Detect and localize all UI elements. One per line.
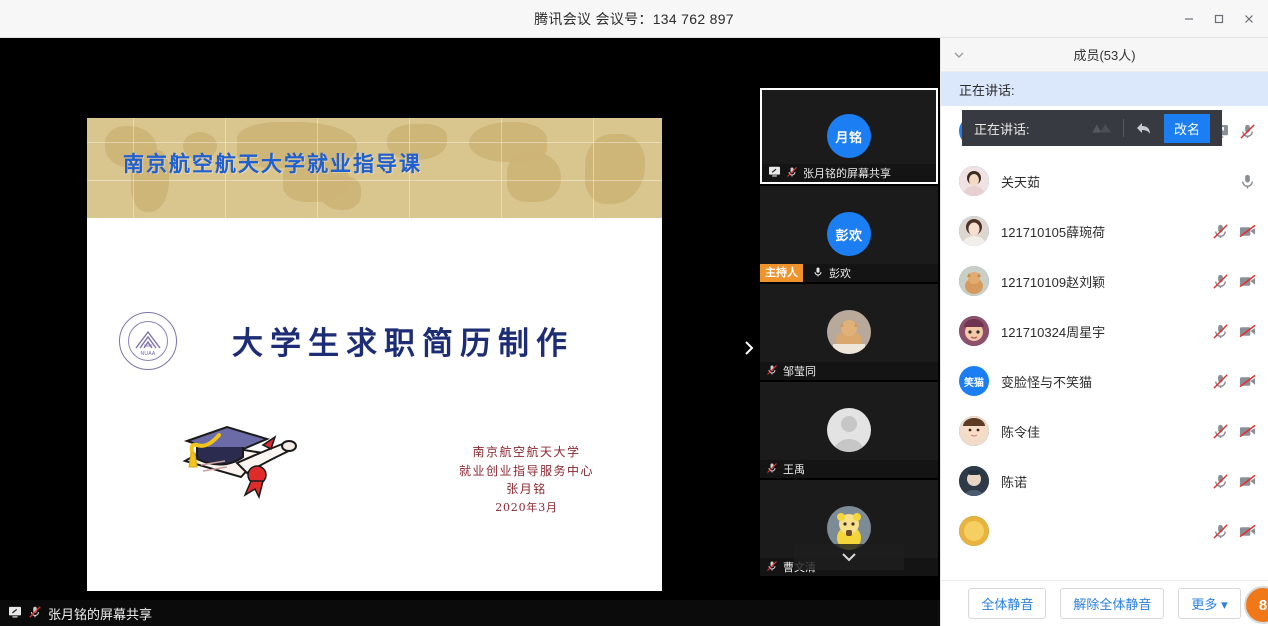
tile-label-bar: 张月铭的屏幕共享 — [762, 164, 936, 182]
mic-muted-icon[interactable] — [1212, 223, 1229, 240]
participant-row[interactable]: 笑猫 变脸怪与不笑猫 — [941, 356, 1268, 406]
participant-status-icons — [1239, 173, 1256, 190]
speaking-status-row: 正在讲话: — [941, 72, 1268, 106]
speaking-tooltip-overlay: 正在讲话: 改名 — [962, 110, 1222, 146]
avatar — [959, 166, 989, 196]
avatar — [959, 316, 989, 346]
video-tile[interactable]: 邹莹同 — [760, 284, 938, 380]
participant-row[interactable] — [941, 506, 1268, 556]
university-seal-logo: 1952 NUAA — [119, 312, 177, 370]
mute-all-button[interactable]: 全体静音 — [968, 588, 1046, 619]
mic-muted-icon — [28, 605, 42, 622]
panel-footer: 全体静音 解除全体静音 更多 ▾ 8 — [941, 580, 1268, 626]
video-off-icon[interactable] — [1239, 473, 1256, 490]
minimize-icon[interactable] — [1174, 4, 1204, 34]
participant-name: 关天茹 — [1001, 172, 1227, 191]
speaking-label: 正在讲话: — [959, 80, 1015, 99]
chevron-right-icon[interactable] — [741, 336, 757, 360]
floating-round-badge[interactable]: 8 — [1244, 586, 1268, 624]
avatar: 月铭 — [827, 114, 871, 158]
screen-share-icon — [8, 606, 22, 621]
unmute-all-button[interactable]: 解除全体静音 — [1060, 588, 1164, 619]
participant-name: 121710324周星宇 — [1001, 322, 1200, 341]
avatar — [959, 416, 989, 446]
participant-row[interactable]: 陈诺 — [941, 456, 1268, 506]
tile-label-bar: 主持人 彭欢 — [760, 264, 938, 282]
participant-name: 121710105薛琬荷 — [1001, 222, 1200, 241]
tile-label: 邹莹同 — [783, 363, 816, 379]
participant-status-icons — [1212, 423, 1256, 440]
participant-row[interactable]: 121710324周星宇 — [941, 306, 1268, 356]
chevron-down-icon[interactable] — [951, 47, 967, 63]
screen-share-status-bar: 张月铭的屏幕共享 — [0, 600, 940, 626]
participant-name: 陈诺 — [1001, 472, 1200, 491]
slide-footer-block: 南京航空航天大学 就业创业指导服务中心 张月铭 2020年3月 — [419, 443, 634, 516]
participant-list[interactable]: 月铭 张月铭 关天茹 — [941, 106, 1268, 580]
slide-main-title: 大学生求职简历制作 — [232, 318, 574, 363]
participant-name: 变脸怪与不笑猫 — [1001, 372, 1200, 391]
avatar — [959, 466, 989, 496]
avatar: 彭欢 — [827, 212, 871, 256]
avatar — [827, 310, 871, 354]
video-off-icon[interactable] — [1239, 323, 1256, 340]
title-bar: 腾讯会议 会议号：134 762 897 — [0, 0, 1268, 38]
avatar — [959, 266, 989, 296]
reply-arrow-icon[interactable] — [1134, 119, 1154, 137]
avatar: 笑猫 — [959, 366, 989, 396]
participant-name: 陈令佳 — [1001, 422, 1200, 441]
mountain-image-icon[interactable] — [1091, 119, 1113, 137]
participant-status-icons — [1212, 323, 1256, 340]
caret-down-icon: ▾ — [1221, 597, 1228, 612]
mic-muted-icon — [766, 560, 778, 575]
footer-line-2: 就业创业指导服务中心 — [419, 462, 634, 481]
tencent-meeting-window: 腾讯会议 会议号：134 762 897 — [0, 0, 1268, 626]
slide-body: 1952 NUAA 大学生求职简历制作 — [87, 218, 662, 591]
graduation-cap-illustration — [167, 423, 307, 503]
participant-status-icons — [1212, 373, 1256, 390]
tile-label: 张月铭的屏幕共享 — [803, 165, 891, 181]
participant-status-icons — [1212, 523, 1256, 540]
mic-on-icon[interactable] — [1239, 173, 1256, 190]
avatar — [959, 216, 989, 246]
video-tile[interactable]: 彭欢 主持人 彭欢 — [760, 186, 938, 282]
participant-status-icons — [1212, 273, 1256, 290]
video-tile[interactable]: 曹文清 — [760, 480, 938, 576]
participant-status-icons — [1212, 223, 1256, 240]
tile-label: 彭欢 — [829, 265, 851, 281]
mic-muted-icon[interactable] — [1212, 323, 1229, 340]
participant-row[interactable]: 121710105薛琬荷 — [941, 206, 1268, 256]
video-thumbnail-strip: 月铭 张月铭的屏幕共享 彭欢 主持人 彭欢 — [760, 88, 938, 578]
rename-button[interactable]: 改名 — [1164, 114, 1210, 143]
mic-muted-icon[interactable] — [1212, 523, 1229, 540]
tile-label: 王禹 — [783, 461, 805, 477]
window-title: 腾讯会议 会议号：134 762 897 — [534, 9, 734, 29]
tile-label-bar: 邹莹同 — [760, 362, 938, 380]
host-badge: 主持人 — [760, 264, 803, 282]
panel-title: 成员(53人) — [1073, 45, 1135, 64]
mic-muted-icon — [786, 166, 798, 181]
slide-banner: 南京航空航天大学就业指导课 — [87, 118, 662, 218]
mic-muted-icon — [766, 462, 778, 477]
tooltip-divider — [1123, 119, 1124, 137]
tooltip-label: 正在讲话: — [974, 119, 1091, 138]
participant-name: 121710109赵刘颖 — [1001, 272, 1200, 291]
avatar — [959, 516, 989, 546]
participant-status-icons — [1212, 473, 1256, 490]
video-off-icon[interactable] — [1239, 423, 1256, 440]
seal-year: 1952 — [129, 343, 167, 348]
mic-muted-icon[interactable] — [1239, 123, 1256, 140]
window-controls — [1174, 0, 1264, 38]
footer-line-1: 南京航空航天大学 — [419, 443, 634, 462]
mic-muted-icon[interactable] — [1212, 473, 1229, 490]
screen-share-icon — [768, 166, 781, 180]
mic-on-icon — [812, 266, 824, 281]
video-tile[interactable]: 王禹 — [760, 382, 938, 478]
seal-text: NUAA — [129, 351, 167, 357]
mic-muted-icon[interactable] — [1212, 273, 1229, 290]
panel-header: 成员(53人) — [941, 38, 1268, 72]
more-label: 更多 — [1191, 597, 1217, 612]
video-off-icon[interactable] — [1239, 523, 1256, 540]
footer-line-4: 2020年3月 — [419, 499, 634, 516]
presentation-slide: 南京航空航天大学就业指导课 1952 NUAA 大学生求职简历制作 — [87, 118, 662, 591]
participant-row[interactable]: 关天茹 — [941, 156, 1268, 206]
more-button[interactable]: 更多 ▾ — [1178, 588, 1240, 619]
video-off-icon[interactable] — [1239, 223, 1256, 240]
participant-row[interactable]: 121710109赵刘颖 — [941, 256, 1268, 306]
video-off-icon[interactable] — [1239, 273, 1256, 290]
chevron-down-icon[interactable] — [794, 544, 904, 570]
mic-muted-icon — [766, 364, 778, 379]
slide-banner-title: 南京航空航天大学就业指导课 — [123, 148, 422, 178]
mic-muted-icon[interactable] — [1212, 373, 1229, 390]
video-tile[interactable]: 月铭 张月铭的屏幕共享 — [760, 88, 938, 184]
avatar — [827, 408, 871, 452]
mic-muted-icon[interactable] — [1212, 423, 1229, 440]
close-icon[interactable] — [1234, 4, 1264, 34]
video-off-icon[interactable] — [1239, 373, 1256, 390]
tile-label-bar: 王禹 — [760, 460, 938, 478]
footer-line-3: 张月铭 — [419, 480, 634, 499]
maximize-icon[interactable] — [1204, 4, 1234, 34]
participant-row[interactable]: 陈令佳 — [941, 406, 1268, 456]
share-bar-label: 张月铭的屏幕共享 — [48, 604, 152, 623]
